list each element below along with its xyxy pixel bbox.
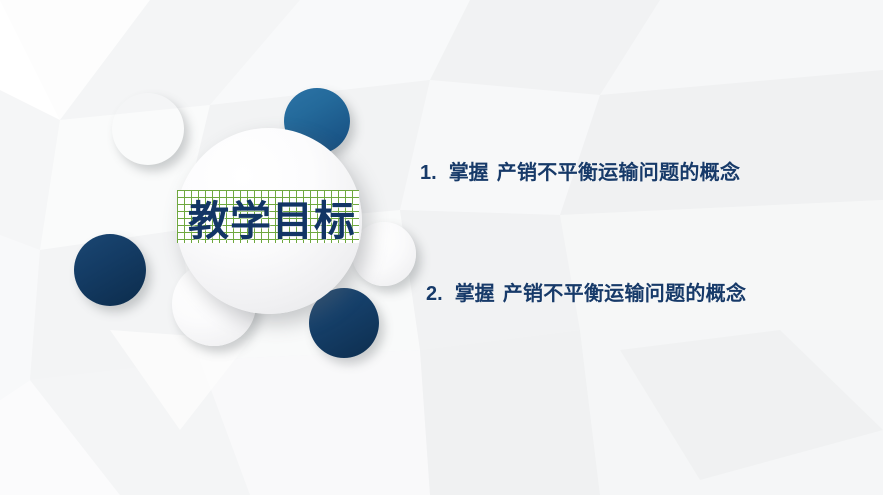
decor-circle-blue-top-left — [112, 93, 184, 165]
presentation-slide: 教学目标 1. 掌握 产销不平衡运输问题的概念 2. 掌握 产销不平衡运输问题的… — [0, 0, 883, 495]
list-item: 2. 掌握 产销不平衡运输问题的概念 — [426, 277, 858, 306]
list-item-number: 2. — [426, 283, 443, 306]
objectives-list: 1. 掌握 产销不平衡运输问题的概念 2. 掌握 产销不平衡运输问题的概念 — [418, 140, 858, 306]
page-title: 教学目标 — [177, 188, 367, 246]
list-item-text: 产销不平衡运输问题的概念 — [503, 277, 747, 306]
list-item-text: 产销不平衡运输问题的概念 — [497, 156, 741, 185]
list-item-verb: 掌握 — [449, 156, 489, 185]
decor-circle-navy-left — [74, 234, 146, 306]
list-item: 1. 掌握 产销不平衡运输问题的概念 — [420, 156, 858, 185]
list-item-number: 1. — [420, 162, 437, 185]
list-item-verb: 掌握 — [455, 277, 495, 306]
